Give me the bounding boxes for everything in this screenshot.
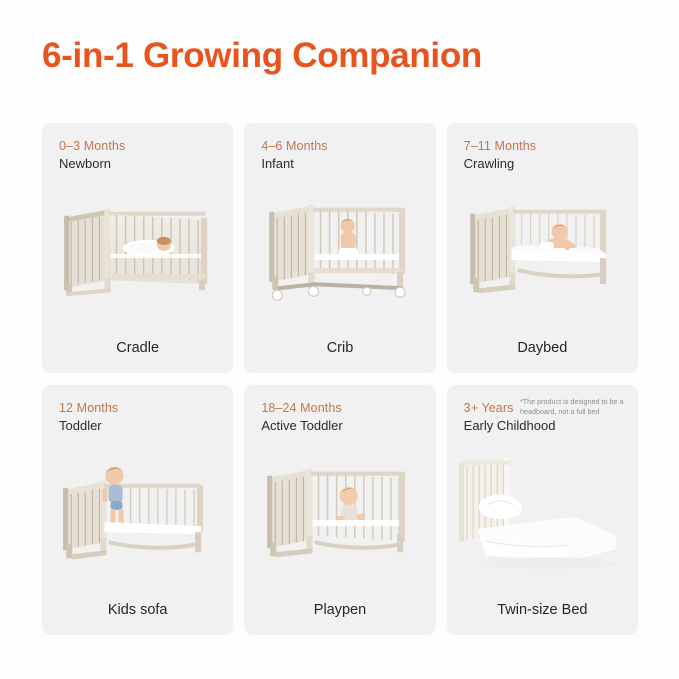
stage-card-crib[interactable]: 4–6 Months Infant	[244, 123, 435, 373]
card-stage-label: Active Toddler	[261, 418, 342, 433]
card-stage-label: Crawling	[464, 156, 515, 171]
playpen-illustration	[244, 441, 435, 587]
card-age-label: 12 Months	[59, 401, 118, 415]
card-age-label: 18–24 Months	[261, 401, 341, 415]
card-stage-label: Infant	[261, 156, 294, 171]
card-age-label: 0–3 Months	[59, 139, 125, 153]
card-stage-label: Toddler	[59, 418, 102, 433]
card-caption: Daybed	[447, 340, 638, 356]
card-age-label: 3+ Years	[464, 401, 514, 415]
kids-sofa-illustration	[42, 441, 233, 587]
card-caption: Cradle	[42, 340, 233, 356]
card-age-label: 4–6 Months	[261, 139, 327, 153]
card-caption: Kids sofa	[42, 602, 233, 618]
stage-card-daybed[interactable]: 7–11 Months Crawling	[447, 123, 638, 373]
stage-card-playpen[interactable]: 18–24 Months Active Toddler	[244, 385, 435, 635]
daybed-illustration	[447, 179, 638, 325]
card-stage-label: Early Childhood	[464, 418, 556, 433]
infographic-page: 6-in-1 Growing Companion 0–3 Months Newb…	[0, 0, 679, 679]
stage-card-twin-size-bed[interactable]: 3+ Years Early Childhood	[447, 385, 638, 635]
stage-card-kids-sofa[interactable]: 12 Months Toddler	[42, 385, 233, 635]
twin-bed-illustration	[447, 441, 638, 587]
page-title: 6-in-1 Growing Companion	[42, 36, 482, 76]
card-caption: Twin-size Bed	[447, 602, 638, 618]
product-disclaimer: *The product is designed to be a headboa…	[520, 397, 628, 417]
crib-illustration	[244, 179, 435, 325]
stage-card-cradle[interactable]: 0–3 Months Newborn	[42, 123, 233, 373]
cradle-illustration	[42, 179, 233, 325]
card-caption: Crib	[244, 340, 435, 356]
stage-card-grid: 0–3 Months Newborn	[42, 123, 638, 635]
card-age-label: 7–11 Months	[464, 139, 536, 153]
card-stage-label: Newborn	[59, 156, 111, 171]
card-caption: Playpen	[244, 602, 435, 618]
